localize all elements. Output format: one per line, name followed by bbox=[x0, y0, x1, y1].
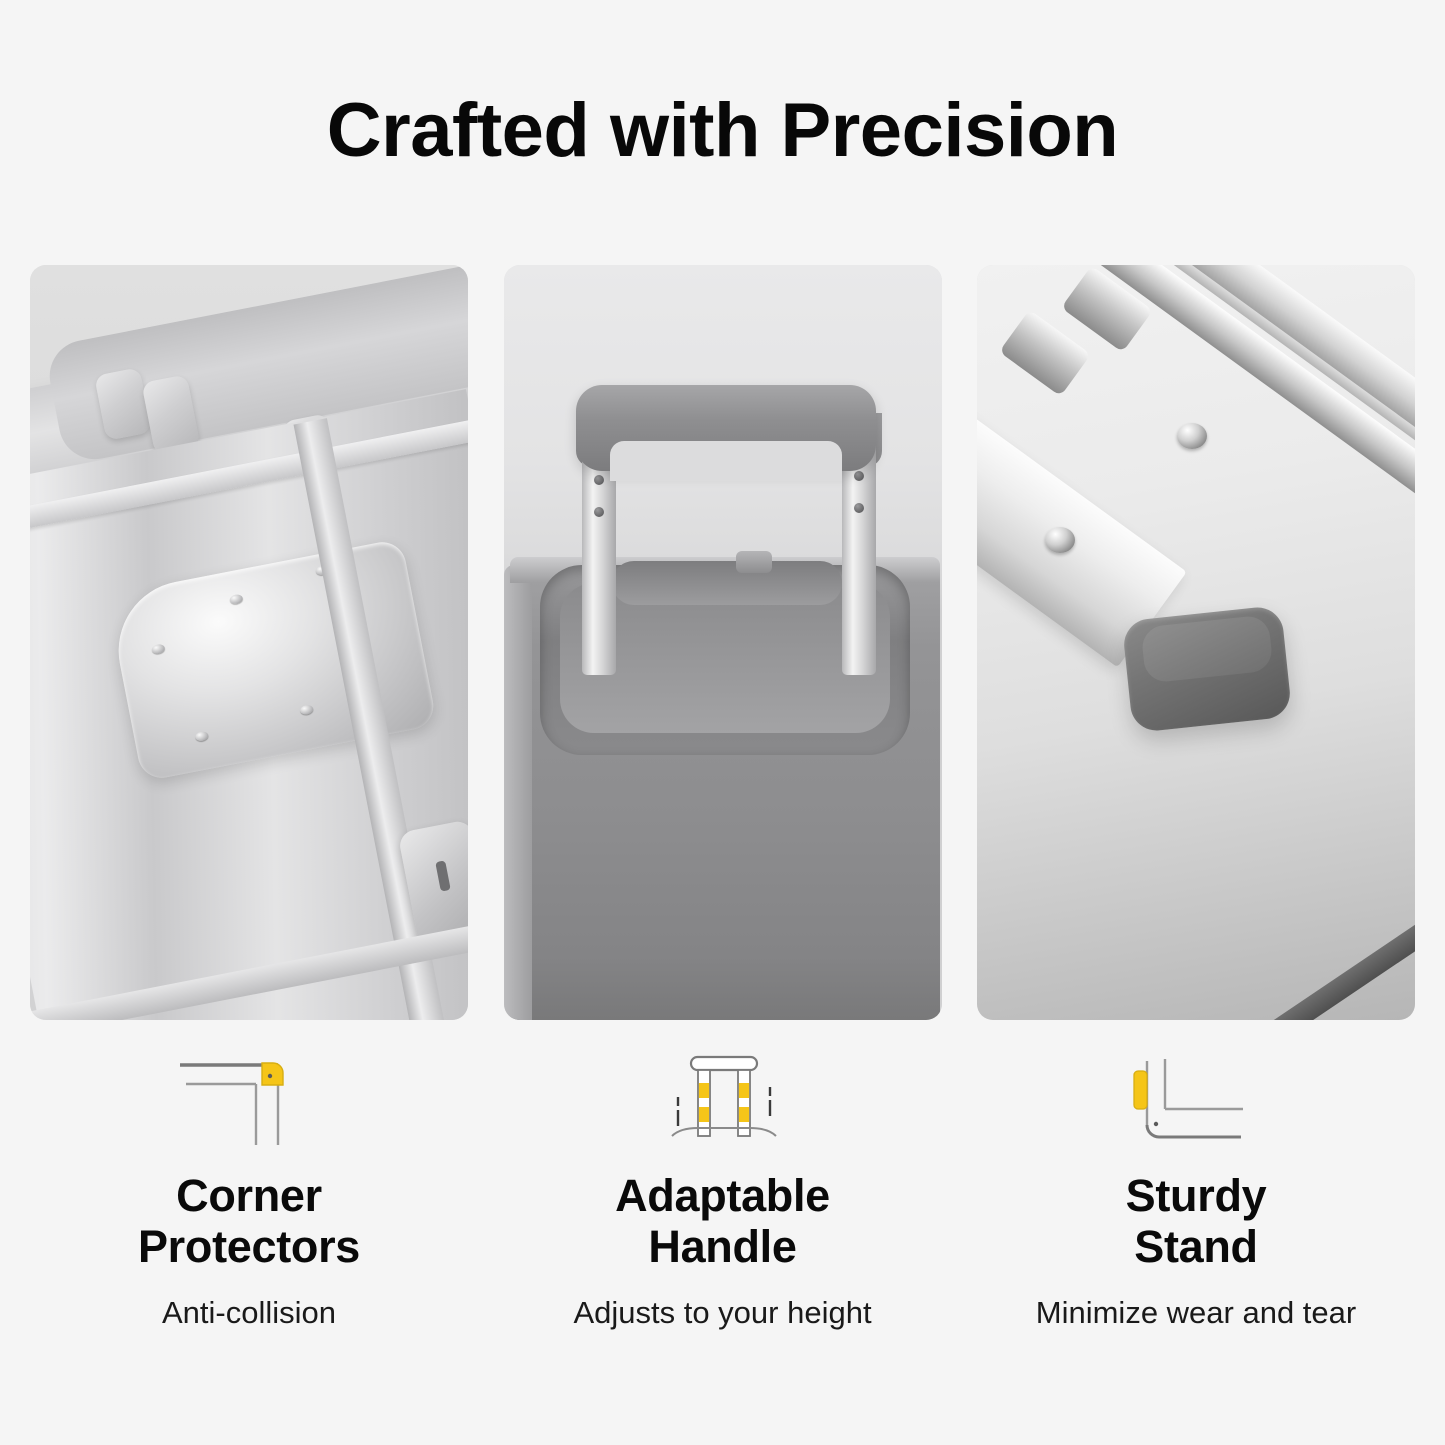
rivet bbox=[1045, 527, 1075, 553]
feature-subtitle: Anti-collision bbox=[30, 1295, 468, 1331]
feature-card-adaptable-handle[interactable] bbox=[504, 265, 942, 1020]
feature-title-line1: Corner bbox=[176, 1170, 322, 1221]
feature-title-line2: Handle bbox=[648, 1221, 796, 1272]
corner-protectors-photo bbox=[30, 265, 468, 1020]
post-screw bbox=[594, 475, 604, 485]
telescoping-handle-icon bbox=[504, 1046, 942, 1152]
feature-photo-row bbox=[30, 265, 1415, 1020]
feature-subtitle: Minimize wear and tear bbox=[977, 1295, 1415, 1331]
feature-card-corner-protectors[interactable] bbox=[30, 265, 468, 1020]
corner-protector-icon bbox=[30, 1046, 468, 1152]
rivet bbox=[299, 704, 313, 715]
feature-title: Sturdy Stand bbox=[977, 1170, 1415, 1273]
product-feature-page: Crafted with Precision bbox=[0, 0, 1445, 1445]
feature-title: Adaptable Handle bbox=[504, 1170, 942, 1273]
stand-foot-icon bbox=[977, 1046, 1415, 1152]
rivet bbox=[1177, 423, 1207, 449]
feature-text-row: Corner Protectors Anti-collision bbox=[30, 1046, 1415, 1331]
handle-post bbox=[842, 437, 876, 675]
feature-subtitle: Adjusts to your height bbox=[504, 1295, 942, 1331]
post-screw bbox=[854, 503, 864, 513]
feature-corner-protectors: Corner Protectors Anti-collision bbox=[30, 1046, 468, 1331]
handle-grip-opening bbox=[610, 441, 842, 481]
feature-title-line2: Protectors bbox=[138, 1221, 360, 1272]
feature-title-line2: Stand bbox=[1134, 1221, 1258, 1272]
feature-title-line1: Sturdy bbox=[1126, 1170, 1267, 1221]
rivet bbox=[151, 643, 165, 654]
post-screw bbox=[594, 507, 604, 517]
feature-card-sturdy-stand[interactable] bbox=[977, 265, 1415, 1020]
handle-lock-bar bbox=[612, 561, 842, 605]
feature-adaptable-handle: Adaptable Handle Adjusts to your height bbox=[504, 1046, 942, 1331]
suitcase-side-edge bbox=[504, 565, 532, 1020]
feature-sturdy-stand: Sturdy Stand Minimize wear and tear bbox=[977, 1046, 1415, 1331]
feature-title: Corner Protectors bbox=[30, 1170, 468, 1273]
feature-title-line1: Adaptable bbox=[615, 1170, 830, 1221]
rivet bbox=[195, 731, 209, 742]
adaptable-handle-photo bbox=[504, 265, 942, 1020]
rivet bbox=[229, 594, 243, 605]
page-title: Crafted with Precision bbox=[0, 90, 1445, 172]
sturdy-stand-photo bbox=[977, 265, 1415, 1020]
handle-release-button bbox=[736, 551, 772, 573]
post-screw bbox=[854, 471, 864, 481]
